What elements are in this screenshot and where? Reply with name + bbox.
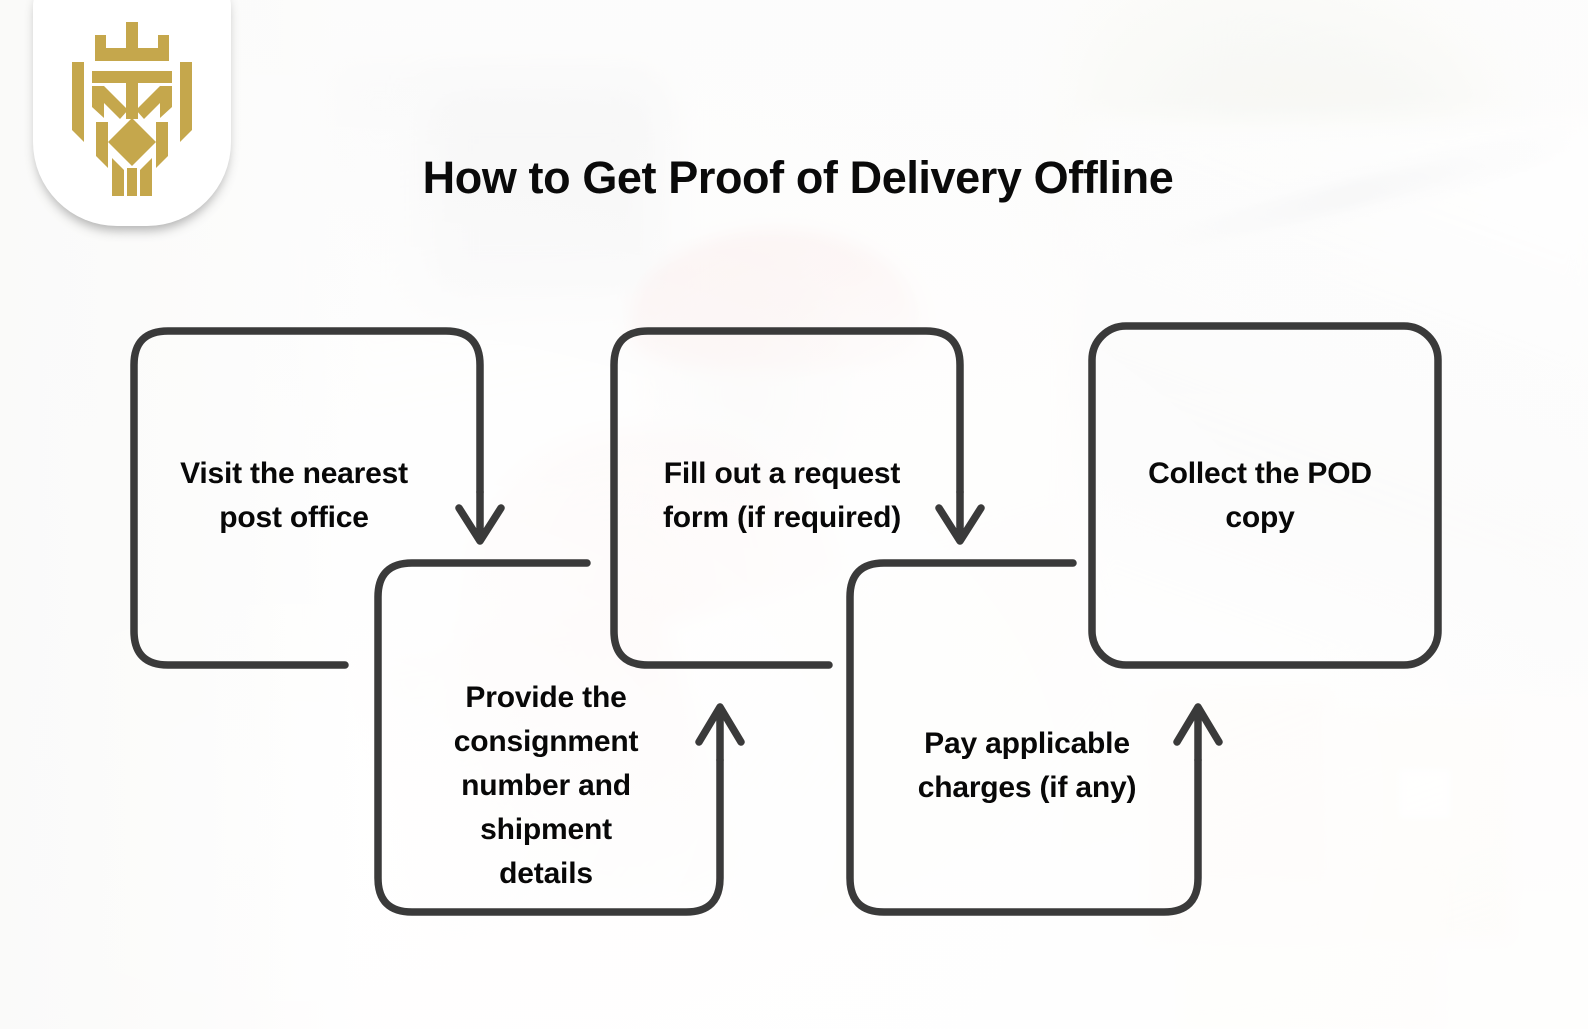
step-5-label: Collect the POD copy — [1092, 452, 1428, 540]
brand-logo-badge[interactable] — [33, 0, 231, 226]
step-4-label: Pay applicable charges (if any) — [862, 722, 1192, 810]
page-title: How to Get Proof of Delivery Offline — [348, 152, 1248, 204]
infographic-canvas: How to Get Proof of Delivery Offline — [0, 0, 1588, 1029]
step-1-label: Visit the nearest post office — [133, 452, 455, 540]
step-3-label: Fill out a request form (if required) — [612, 452, 952, 540]
step-2-label: Provide the consignment number and shipm… — [396, 676, 696, 896]
gold-crown-shield-emblem-icon — [66, 18, 198, 200]
